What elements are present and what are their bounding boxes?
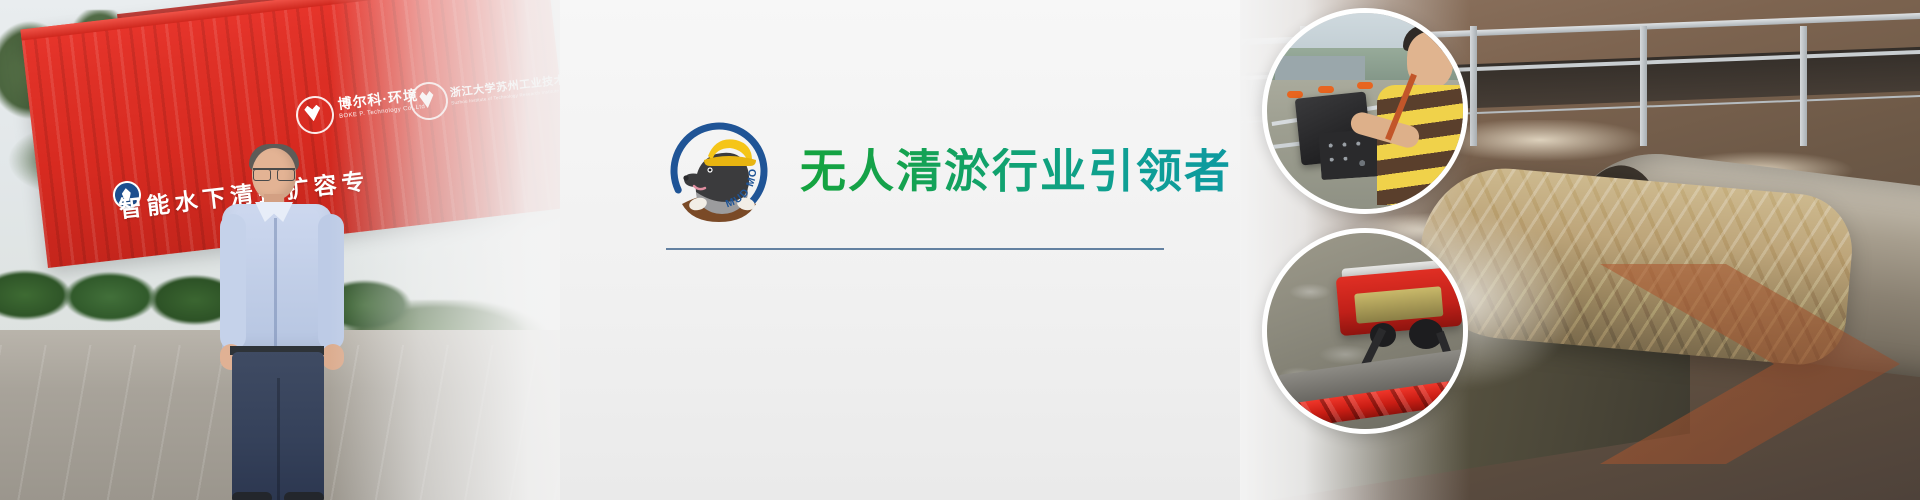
left-photo-container-and-person: 博尔科·环境 BOKE P. Technology Co.,Ltd 浙江大学苏州… (0, 0, 560, 500)
mud-mole-logo: MUD MOLE (660, 112, 778, 230)
hero-banner: 博尔科·环境 BOKE P. Technology Co.,Ltd 浙江大学苏州… (0, 0, 1920, 500)
page-title: 无人清淤行业引领者 (800, 148, 1232, 194)
circle-photo-operator (1262, 8, 1468, 214)
center-brand-block: MUD MOLE 无人清淤行业引领者 (660, 0, 1180, 500)
divider-line (666, 248, 1164, 250)
person-left-shoe (232, 492, 272, 500)
circle1-operator-striped-shirt (1377, 85, 1468, 205)
person-photo (222, 148, 342, 500)
person-right-shoe (284, 492, 324, 500)
person-right-arm (318, 214, 344, 350)
railing-post (1800, 26, 1807, 146)
brand-row: MUD MOLE 无人清淤行业引领者 (660, 112, 1232, 230)
person-left-arm (220, 214, 246, 350)
circle1-float-buoy (1318, 86, 1334, 93)
circle1-shed (1275, 56, 1365, 80)
circle1-operator (1361, 21, 1468, 209)
person-right-hand (322, 344, 344, 370)
circle2-robot-body (1335, 267, 1461, 336)
railing-post (1640, 26, 1647, 146)
railing-post (1470, 26, 1477, 146)
circle2-gearbox (1270, 398, 1293, 421)
circle-photo-dredging-robot (1262, 228, 1468, 434)
person-glasses (253, 168, 295, 181)
person-trousers (232, 352, 324, 500)
